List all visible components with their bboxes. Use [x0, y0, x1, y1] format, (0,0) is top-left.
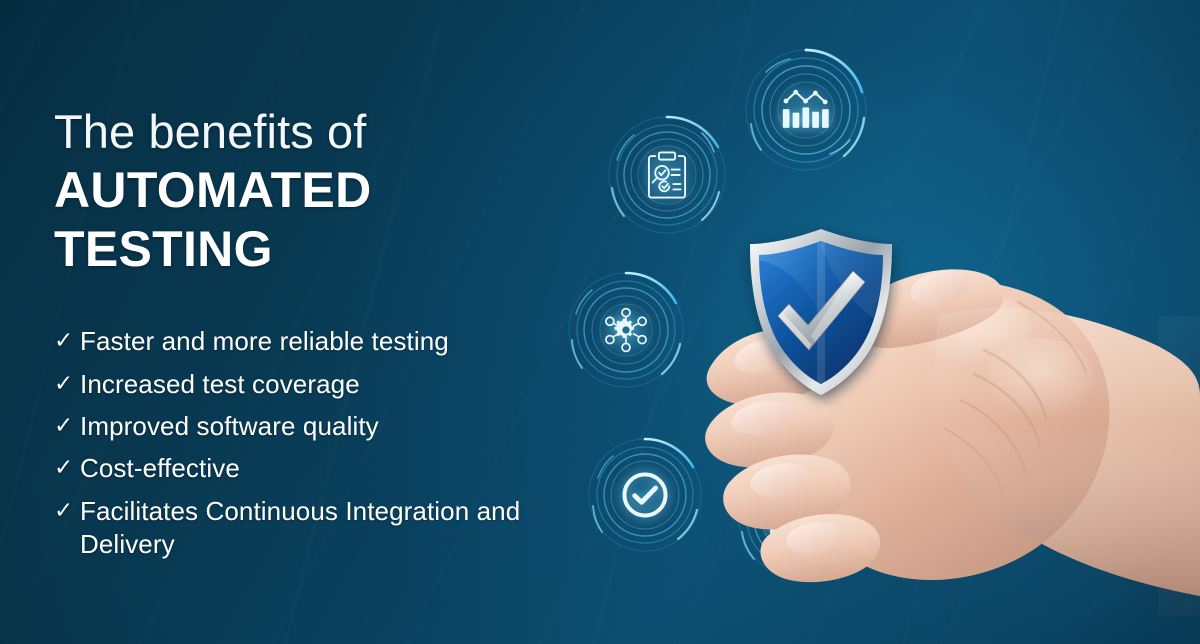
check-circle-icon: [620, 470, 670, 520]
copy-block: The benefits of AUTOMATED TESTING ✓ Fast…: [54, 104, 574, 570]
check-mark-icon: ✓: [54, 325, 78, 357]
clipboard-check-magnifier-icon: [644, 150, 691, 201]
list-item: ✓ Faster and more reliable testing: [54, 325, 574, 358]
hud-ring-gear: [566, 270, 686, 390]
gear-network-nodes-icon: [599, 303, 653, 357]
shield-checkmark: [745, 226, 897, 398]
check-mark-icon: ✓: [54, 368, 78, 400]
list-item-label: Facilitates Continuous Integration and D…: [80, 495, 574, 562]
page-title-line-1: The benefits of: [54, 104, 574, 159]
banner-root: The benefits of AUTOMATED TESTING ✓ Fast…: [0, 0, 1200, 644]
benefits-list: ✓ Faster and more reliable testing ✓ Inc…: [54, 325, 574, 561]
page-title-line-2: AUTOMATED TESTING: [54, 161, 574, 279]
list-item: ✓ Facilitates Continuous Integration and…: [54, 495, 574, 562]
list-item: ✓ Improved software quality: [54, 410, 574, 443]
bar-chart-trend-icon: [780, 90, 832, 131]
list-item-label: Faster and more reliable testing: [80, 325, 574, 358]
list-item: ✓ Increased test coverage: [54, 368, 574, 401]
list-item-label: Cost-effective: [80, 452, 574, 485]
list-item: ✓ Cost-effective: [54, 452, 574, 485]
hud-ring-chart: [744, 48, 868, 172]
list-item-label: Improved software quality: [80, 410, 574, 443]
list-item-label: Increased test coverage: [80, 368, 574, 401]
check-mark-icon: ✓: [54, 410, 78, 442]
check-mark-icon: ✓: [54, 452, 78, 484]
check-mark-icon: ✓: [54, 495, 78, 527]
hud-ring-check: [586, 436, 704, 554]
